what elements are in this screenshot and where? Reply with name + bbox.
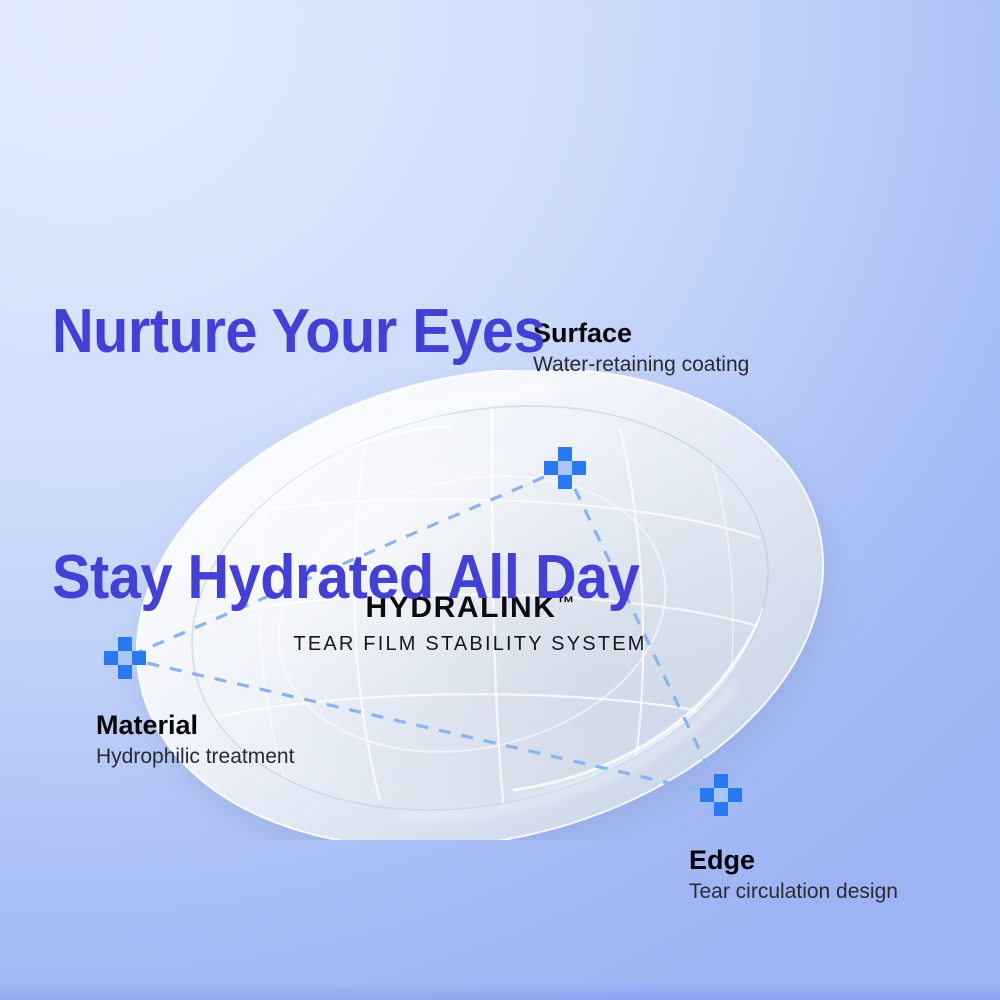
- headline-line-2: Stay Hydrated All Day: [52, 537, 852, 619]
- callout-edge: Edge Tear circulation design: [689, 845, 898, 904]
- callout-edge-description: Tear circulation design: [689, 879, 898, 904]
- cross-arm-left: [700, 788, 714, 802]
- poster-canvas: HYDRALINK™ TEAR FILM STABILITY SYSTEM Su…: [0, 0, 1000, 1000]
- bottom-gradient-band: [0, 984, 1000, 1000]
- cross-arm-bottom: [714, 802, 728, 816]
- cross-center: [714, 788, 728, 802]
- callout-edge-title: Edge: [689, 845, 898, 875]
- headline-line-1: Nurture Your Eyes: [52, 291, 852, 373]
- page-title: Nurture Your Eyes Stay Hydrated All Day: [52, 128, 852, 783]
- cross-arm-right: [728, 788, 742, 802]
